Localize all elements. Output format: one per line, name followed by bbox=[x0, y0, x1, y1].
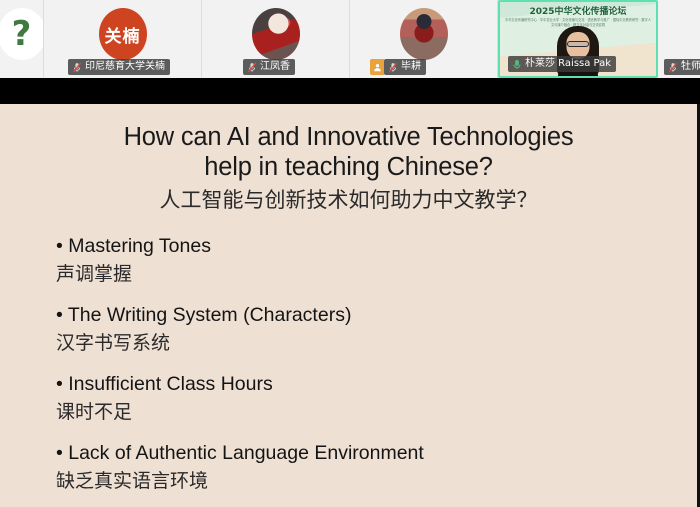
participant-name: 印尼慈育大学关楠 bbox=[85, 61, 165, 73]
microphone-muted-icon bbox=[247, 62, 257, 73]
person-icon bbox=[373, 63, 382, 72]
question-mark-avatar-icon bbox=[0, 8, 44, 60]
participant-name: 毕耕 bbox=[401, 61, 421, 73]
participant-tile[interactable]: 毕耕 bbox=[350, 0, 498, 78]
participant-name-badge: 江凤香 bbox=[243, 59, 295, 75]
slide-title-line-2: help in teaching Chinese? bbox=[26, 152, 671, 182]
participant-name-badge: 牡师 bbox=[664, 59, 700, 75]
letterbox-bar bbox=[0, 78, 700, 104]
zoom-meeting-window: 关楠 印尼慈育大学关楠 bbox=[0, 0, 700, 507]
bullet-item-en: • Lack of Authentic Language Environment bbox=[56, 439, 697, 467]
microphone-muted-icon bbox=[72, 62, 82, 73]
participant-name-badge: 朴莱莎 Raissa Pak bbox=[508, 56, 616, 72]
avatar bbox=[251, 6, 301, 62]
glasses-icon bbox=[567, 41, 589, 47]
slide-subtitle: 人工智能与创新技术如何助力中文教学？ bbox=[0, 186, 697, 214]
slide-title: How can AI and Innovative Technologies h… bbox=[0, 122, 697, 182]
participant-name: 牡师 bbox=[681, 61, 700, 73]
participant-tile[interactable]: 关楠 印尼慈育大学关楠 bbox=[44, 0, 202, 78]
participant-name-badge: 毕耕 bbox=[384, 59, 426, 75]
bullet-item-zh: 缺乏真实语言环境 bbox=[56, 467, 697, 495]
shared-screen-slide: How can AI and Innovative Technologies h… bbox=[0, 104, 697, 507]
avatar bbox=[0, 6, 44, 62]
bullet-item-en: • Insufficient Class Hours bbox=[56, 370, 697, 398]
bullet-item-en: • The Writing System (Characters) bbox=[56, 301, 697, 329]
avatar: 关楠 bbox=[98, 6, 148, 62]
slide-title-line-1: How can AI and Innovative Technologies bbox=[26, 122, 671, 152]
participant-name-badge: 印尼慈育大学关楠 bbox=[68, 59, 170, 75]
participant-tile[interactable]: 江凤香 bbox=[202, 0, 350, 78]
avatar-initials: 关楠 bbox=[99, 8, 147, 60]
bullet-item-zh: 课时不足 bbox=[56, 398, 697, 426]
participant-tile[interactable]: 牡师 bbox=[658, 0, 700, 78]
bullet-item-en: • Mastering Tones bbox=[56, 232, 697, 260]
bullet-item-zh: 声调掌握 bbox=[56, 260, 697, 288]
avatar-photo bbox=[252, 8, 300, 60]
avatar bbox=[399, 6, 449, 62]
bullet-item-zh: 汉字书写系统 bbox=[56, 329, 697, 357]
host-badge bbox=[370, 59, 384, 75]
microphone-muted-icon bbox=[388, 62, 398, 73]
participant-name: 江凤香 bbox=[260, 61, 290, 73]
participant-tile-active-speaker[interactable]: 2025中华文化传播论坛 中华文化传播研究中心 · 华中农业大学 · 文化传播与… bbox=[498, 0, 658, 78]
avatar-photo bbox=[400, 8, 448, 60]
participant-gallery-strip[interactable]: 关楠 印尼慈育大学关楠 bbox=[0, 0, 700, 78]
virtual-background-title: 2025中华文化传播论坛 bbox=[500, 4, 656, 17]
participant-tile[interactable] bbox=[0, 0, 44, 78]
participant-name: 朴莱莎 Raissa Pak bbox=[525, 58, 611, 70]
microphone-muted-icon bbox=[668, 62, 678, 73]
microphone-active-icon bbox=[512, 59, 522, 70]
slide-bullet-list: • Mastering Tones 声调掌握 • The Writing Sys… bbox=[0, 232, 697, 495]
